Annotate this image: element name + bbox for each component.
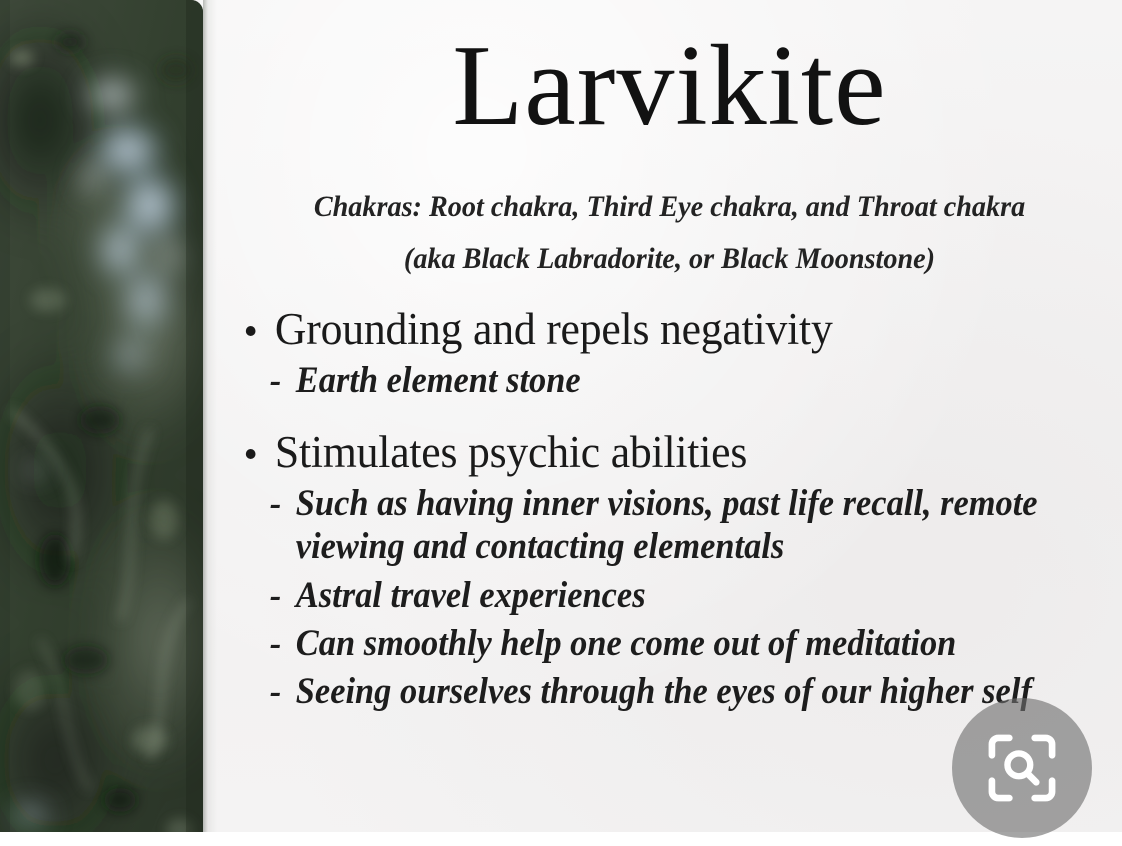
larvikite-stone-photo	[0, 0, 203, 846]
dash-icon: -	[270, 622, 281, 665]
dash-icon: -	[270, 482, 281, 525]
bullet-heading: Grounding and repels negativity	[240, 304, 1103, 354]
properties-list: Grounding and repels negativity - Earth …	[240, 304, 1122, 713]
bottom-white-strip	[0, 832, 1122, 846]
sub-list-item: - Can smoothly help one come out of medi…	[240, 622, 1068, 665]
dash-icon: -	[270, 574, 281, 617]
chakras-subtitle: Chakras: Root chakra, Third Eye chakra, …	[244, 192, 1095, 222]
sub-list-item-text: Seeing ourselves through the eyes of our…	[296, 671, 1032, 712]
sub-list: - Such as having inner visions, past lif…	[240, 482, 1122, 713]
sub-list-item: - Earth element stone	[240, 359, 1068, 402]
dash-icon: -	[270, 359, 281, 402]
sub-list-item-text: Earth element stone	[296, 360, 581, 401]
dash-icon: -	[270, 670, 281, 713]
bullet-dot-icon	[246, 449, 256, 459]
page-title: Larvikite	[217, 28, 1122, 144]
sub-list-item-text: Such as having inner visions, past life …	[296, 483, 1038, 567]
bullet-block: Stimulates psychic abilities - Such as h…	[240, 427, 1122, 714]
sub-list-item: - Seeing ourselves through the eyes of o…	[240, 670, 1068, 713]
alternate-names-subtitle: (aka Black Labradorite, or Black Moonsto…	[244, 244, 1095, 274]
bullet-heading-text: Stimulates psychic abilities	[275, 427, 747, 477]
bullet-block: Grounding and repels negativity - Earth …	[240, 304, 1122, 403]
sub-list-item-text: Astral travel experiences	[296, 575, 646, 616]
google-lens-icon	[984, 730, 1060, 806]
sub-list-item: - Astral travel experiences	[240, 574, 1068, 617]
google-lens-button[interactable]	[952, 698, 1092, 838]
stone-edge-shadow	[203, 0, 217, 846]
bullet-dot-icon	[246, 326, 256, 336]
bullet-heading-text: Grounding and repels negativity	[275, 304, 833, 354]
sub-list-item-text: Can smoothly help one come out of medita…	[296, 623, 957, 664]
bullet-heading: Stimulates psychic abilities	[240, 427, 1103, 477]
sub-list: - Earth element stone	[240, 359, 1122, 402]
screenshot-root: Larvikite Chakras: Root chakra, Third Ey…	[0, 0, 1122, 846]
sub-list-item: - Such as having inner visions, past lif…	[240, 482, 1068, 569]
